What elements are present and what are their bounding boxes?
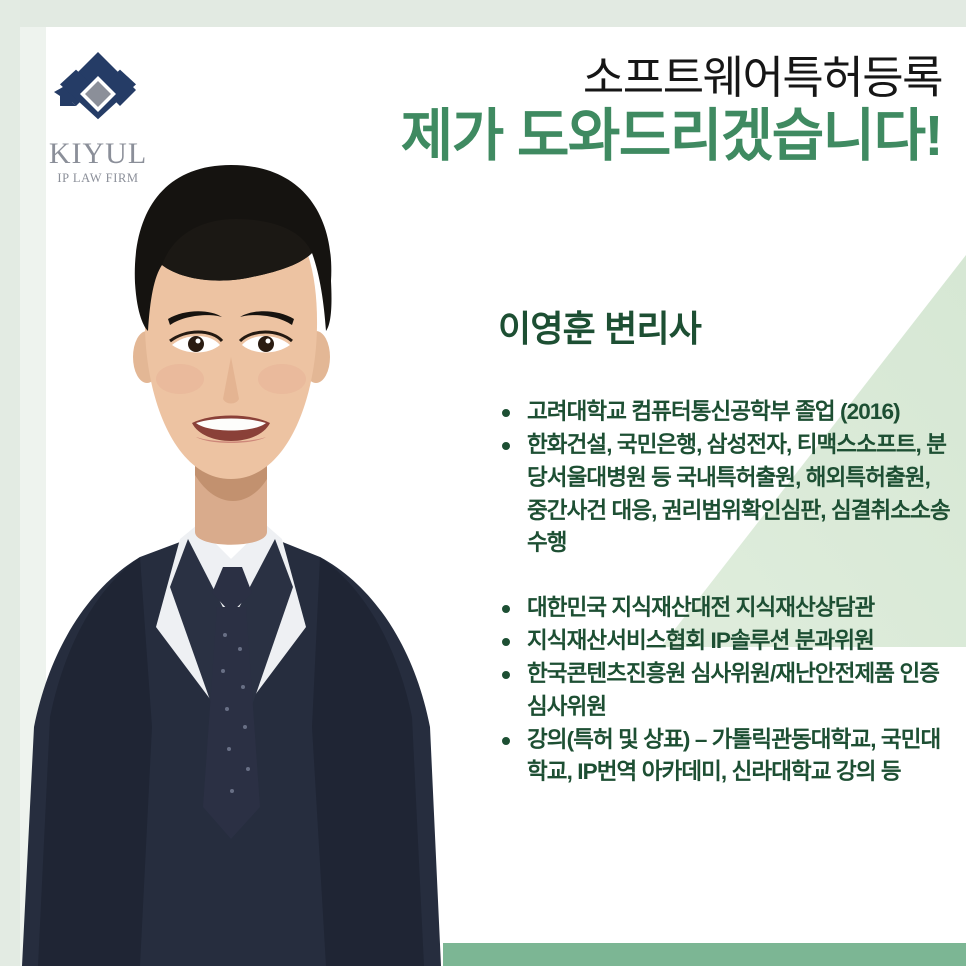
brand-logo: KIYUL IP LAW FIRM xyxy=(38,48,158,186)
promo-card: KIYUL IP LAW FIRM 소프트웨어특허등록 제가 도와드리겠습니다!… xyxy=(0,0,966,966)
kiyul-diamond-logo-icon xyxy=(50,48,146,136)
bottom-green-bar xyxy=(443,943,966,966)
profile-block: 이영훈 변리사 고려대학교 컴퓨터통신공학부 졸업 (2016) 한화건설, 국… xyxy=(498,300,950,789)
list-item: 고려대학교 컴퓨터통신공학부 졸업 (2016) xyxy=(498,396,950,429)
list-item: 대한민국 지식재산대전 지식재산상담관 xyxy=(498,592,950,625)
headline-line-1: 소프트웨어특허등록 xyxy=(322,54,942,103)
list-item: 강의(특허 및 상표) – 가톨릭관동대학교, 국민대학교, IP번역 아카데미… xyxy=(498,724,950,790)
list-item: 한국콘텐츠진흥원 심사위원/재난안전제품 인증 심사위원 xyxy=(498,658,950,724)
list-item: 지식재산서비스협회 IP솔루션 분과위원 xyxy=(498,625,950,658)
logo-wordmark: KIYUL xyxy=(38,138,158,170)
credentials-list: 고려대학교 컴퓨터통신공학부 졸업 (2016) 한화건설, 국민은행, 삼성전… xyxy=(498,396,950,789)
profile-name: 이영훈 변리사 xyxy=(498,300,950,352)
logo-tagline: IP LAW FIRM xyxy=(38,171,158,186)
headline-block: 소프트웨어특허등록 제가 도와드리겠습니다! xyxy=(322,54,942,167)
list-item: 한화건설, 국민은행, 삼성전자, 티맥스소프트, 분당서울대병원 등 국내특허… xyxy=(498,429,950,560)
frame-top-strip xyxy=(0,0,966,27)
headline-line-2: 제가 도와드리겠습니다! xyxy=(322,105,942,168)
frame-left-strip xyxy=(0,0,20,966)
